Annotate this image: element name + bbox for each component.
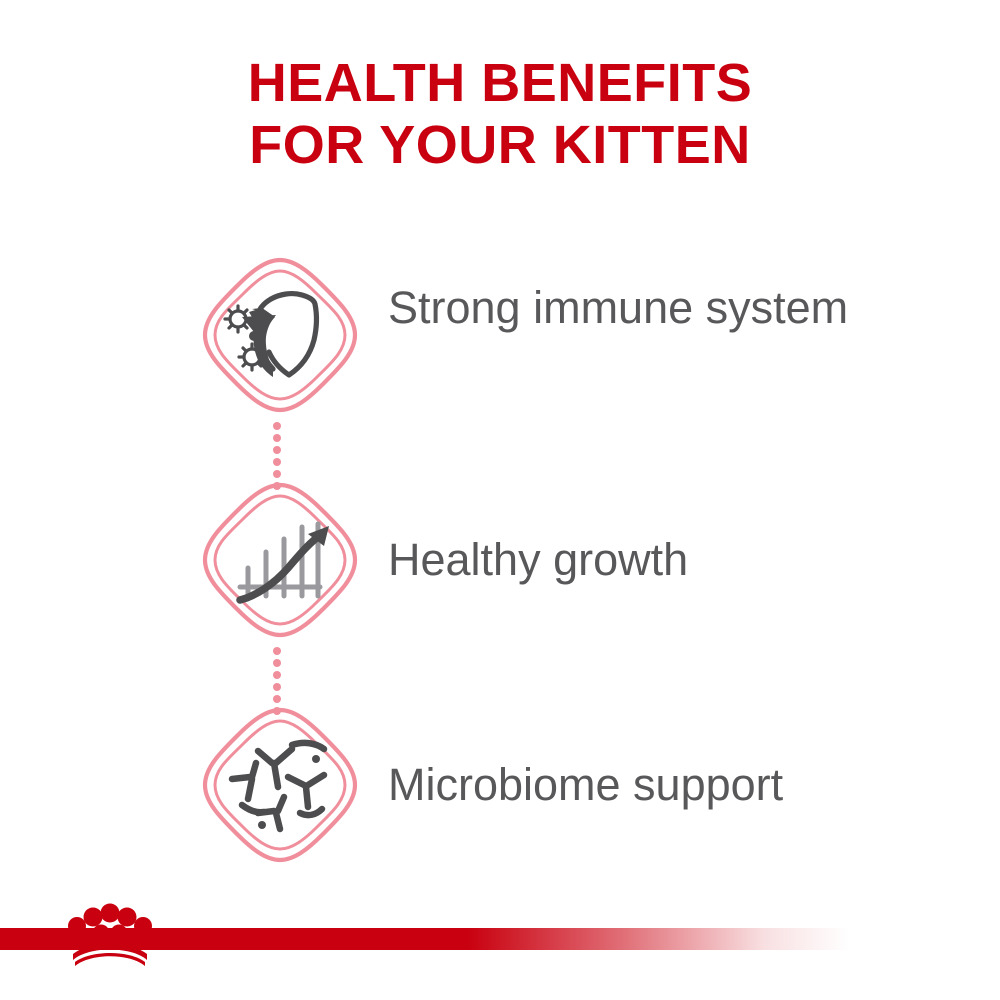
page-title: HEALTH BENEFITS FOR YOUR KITTEN (0, 52, 1000, 176)
connector-dot (273, 671, 281, 679)
growth-chart-icon (196, 465, 364, 655)
benefit-row-microbiome: Microbiome support (0, 690, 1000, 880)
royal-canin-crown-logo (55, 896, 165, 968)
shield-germs-icon (196, 240, 364, 430)
connector-dot (273, 647, 281, 655)
connector-dot (273, 659, 281, 667)
benefits-list: Strong immune system (0, 240, 1000, 880)
benefit-label-growth: Healthy growth (388, 531, 988, 589)
benefit-row-growth: Healthy growth (0, 465, 1000, 655)
microbiome-bacteria-icon (196, 690, 364, 880)
health-benefits-infographic: { "header": { "title_line_1": "HEALTH BE… (0, 0, 1000, 1000)
benefit-label-microbiome: Microbiome support (388, 756, 988, 814)
connector-dot (273, 434, 281, 442)
connector-dot (273, 422, 281, 430)
page-title-line-1: HEALTH BENEFITS (0, 52, 1000, 114)
benefit-row-immune: Strong immune system (0, 240, 1000, 430)
benefit-label-immune: Strong immune system (388, 278, 988, 338)
connector-dot (273, 446, 281, 454)
page-title-line-2: FOR YOUR KITTEN (0, 114, 1000, 176)
